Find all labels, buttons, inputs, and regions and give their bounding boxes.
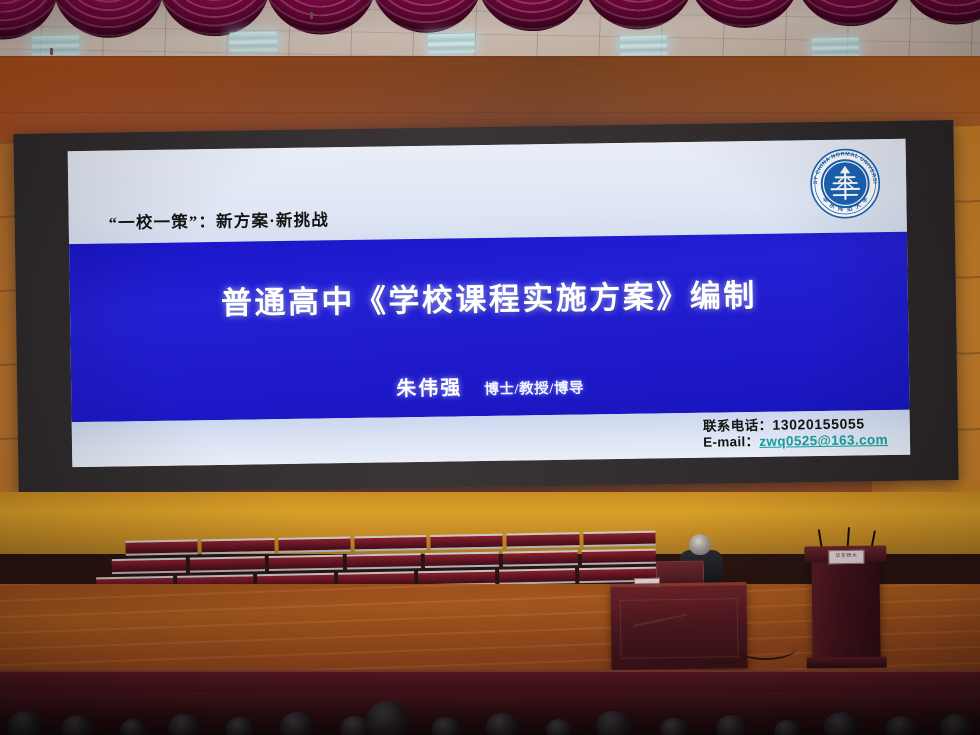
riser-segment <box>354 535 427 551</box>
slide-header-band: “一校一策”：新方案·新挑战 <box>68 139 907 244</box>
audience-head <box>596 711 630 735</box>
audience-head <box>546 719 572 735</box>
lectern-sign-text: 华东师大 <box>829 551 863 561</box>
audience-silhouettes <box>0 692 980 735</box>
ceiling-light <box>230 32 277 52</box>
contact-email-row: E-mail：zwq0525@163.com <box>703 433 888 452</box>
audience-head <box>432 717 460 735</box>
speaker-titles: 博士/教授/博导 <box>484 381 584 398</box>
email-address-link[interactable]: zwq0525@163.com <box>759 433 888 450</box>
riser-segment <box>581 549 656 565</box>
drape-swag <box>476 0 589 32</box>
drape-swag <box>0 0 60 40</box>
drape-swag <box>794 0 907 27</box>
riser-segment <box>499 568 576 584</box>
floor-cable <box>700 648 746 664</box>
riser-segment <box>112 558 187 574</box>
contact-block: 联系电话：13020155055 E-mail：zwq0525@163.com <box>703 415 888 452</box>
riser-segment <box>503 550 578 566</box>
slide-body: 普通高中《学校课程实施方案》编制 朱伟强博士/教授/博导 <box>69 232 910 422</box>
phone-label: 联系电话： <box>703 418 773 434</box>
drape-swag <box>53 0 166 39</box>
phone-number: 13020155055 <box>772 415 864 432</box>
riser-segment <box>583 531 656 547</box>
riser-segment <box>190 556 265 572</box>
ceiling-light <box>428 34 475 54</box>
ceiling-light <box>32 36 79 56</box>
drape-swag <box>582 0 695 30</box>
ceiling-light <box>620 36 667 56</box>
drape-swag <box>264 0 377 35</box>
slide-subtitle: “一校一策”：新方案·新挑战 <box>109 206 330 233</box>
audience-head <box>716 715 746 735</box>
riser-segment <box>347 553 422 569</box>
audience-head <box>8 711 42 735</box>
riser-segment <box>268 555 343 571</box>
riser-segment <box>202 538 275 554</box>
drape-swag <box>900 0 980 25</box>
riser-segment <box>278 536 351 552</box>
lectern-sign: 华东师大 <box>828 550 864 564</box>
riser-segment <box>125 539 198 555</box>
lectern-base <box>807 657 887 669</box>
projection-screen-frame: “一校一策”：新方案·新挑战 <box>13 120 958 494</box>
drape-swag <box>370 0 483 34</box>
audience-head <box>366 701 408 735</box>
speaker-name: 朱伟强 <box>396 377 462 400</box>
audience-head <box>120 719 146 735</box>
lectern: 华东师大 <box>811 553 880 662</box>
ceiling-fixture <box>310 12 313 19</box>
audience-head <box>486 713 518 735</box>
slide-title: 普通高中《学校课程实施方案》编制 <box>70 268 909 325</box>
ceiling-light <box>812 38 859 58</box>
audience-head <box>886 716 916 735</box>
audience-head <box>226 717 254 735</box>
audience-head <box>168 714 200 735</box>
speaker-head <box>689 534 711 555</box>
east-china-normal-university-seal-icon: EAST CHINA NORMAL UNIVERSITY 华 东 师 范 大 学 <box>808 146 883 221</box>
audience-head <box>280 712 314 735</box>
riser-segment <box>425 552 500 568</box>
ceiling-fixture <box>50 48 53 55</box>
drape-swag <box>688 0 801 29</box>
audience-head <box>774 720 800 735</box>
auditorium-photo: “一校一策”：新方案·新挑战 <box>0 0 980 735</box>
audience-head <box>660 718 688 735</box>
audience-head <box>62 715 92 735</box>
riser-segment <box>430 534 503 550</box>
audience-head <box>940 714 972 735</box>
audience-head <box>824 712 858 735</box>
speaker-line: 朱伟强博士/教授/博导 <box>71 365 909 406</box>
riser-segment <box>507 532 580 548</box>
presentation-slide: “一校一策”：新方案·新挑战 <box>68 139 911 467</box>
email-label: E-mail： <box>703 434 759 450</box>
